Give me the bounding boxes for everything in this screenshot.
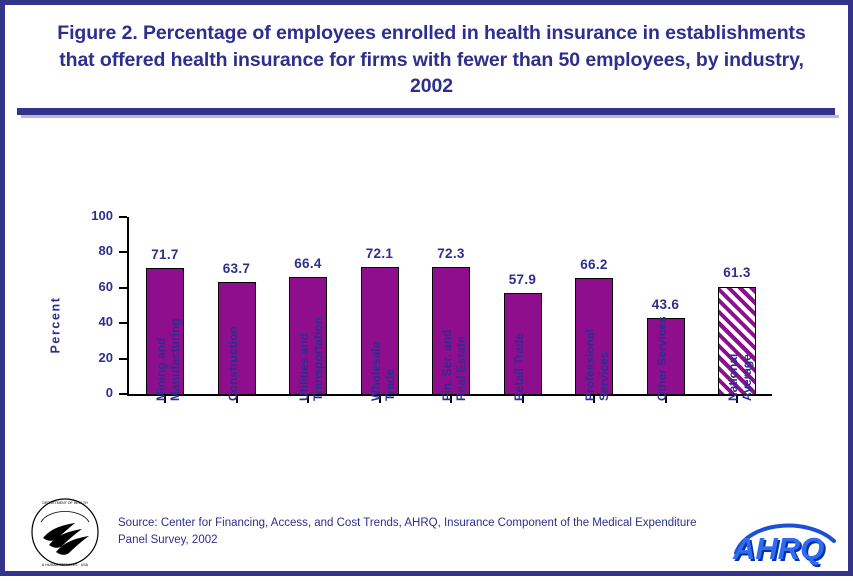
svg-text:DEPARTMENT OF HEALTH: DEPARTMENT OF HEALTH: [42, 501, 88, 505]
bar-chart: Percent 020406080100 71.763.766.472.172.…: [5, 5, 853, 581]
y-axis-tick-label: 80: [71, 243, 113, 258]
y-axis-tick: [119, 251, 127, 253]
bar-value-label: 72.1: [344, 246, 416, 261]
category-label-line: Retail Trade: [513, 333, 527, 401]
category-label-line: Transportation: [312, 317, 326, 401]
y-axis-tick-label: 100: [71, 208, 113, 223]
source-note: Source: Center for Financing, Access, an…: [118, 515, 723, 548]
category-label-line: Wholesale: [370, 342, 384, 401]
category-label-line: Professional: [584, 329, 598, 401]
bar-value-label: 57.9: [487, 272, 559, 287]
bar-value-label: 71.7: [129, 247, 201, 262]
y-axis-tick-label: 20: [71, 350, 113, 365]
category-label-line: Other Services: [656, 316, 670, 401]
footer-divider: [721, 571, 851, 575]
y-axis-title: Percent: [45, 260, 67, 390]
hhs-seal-logo: DEPARTMENT OF HEALTH & HUMAN SERVICES · …: [19, 492, 111, 572]
bar-value-label: 63.7: [201, 261, 273, 276]
y-axis-tick: [119, 216, 127, 218]
y-axis-tick-label: 40: [71, 314, 113, 329]
figure-page: Figure 2. Percentage of employees enroll…: [0, 0, 853, 576]
category-label-line: Construction: [227, 326, 241, 401]
bar-value-label: 66.4: [272, 256, 344, 271]
category-label-line: Services: [598, 352, 612, 401]
category-label-line: Real Estate: [455, 336, 469, 401]
bar-value-label: 43.6: [630, 297, 702, 312]
svg-text:AHRQ: AHRQ: [732, 531, 824, 566]
category-label-line: National: [727, 354, 741, 401]
y-axis-title-text: Percent: [49, 296, 63, 353]
category-label-line: Utilities and: [298, 333, 312, 401]
y-axis-tick: [119, 393, 127, 395]
category-label-line: Fin. Ser. and: [441, 330, 455, 401]
y-axis-tick-label: 0: [71, 385, 113, 400]
y-axis-tick: [119, 322, 127, 324]
y-axis-tick-label: 60: [71, 279, 113, 294]
bar-value-label: 72.3: [415, 246, 487, 261]
category-label-line: Mining and: [155, 338, 169, 401]
category-label-line: Trade: [384, 369, 398, 401]
y-axis-tick: [119, 358, 127, 360]
svg-text:& HUMAN SERVICES · USA: & HUMAN SERVICES · USA: [42, 563, 89, 567]
y-axis-tick: [119, 287, 127, 289]
bar-value-label: 61.3: [701, 265, 773, 280]
category-label-line: Average: [741, 354, 755, 401]
bar-value-label: 66.2: [558, 257, 630, 272]
ahrq-logo: AHRQ AHRQ: [722, 513, 847, 571]
category-label-line: Manufacturing: [169, 318, 183, 401]
